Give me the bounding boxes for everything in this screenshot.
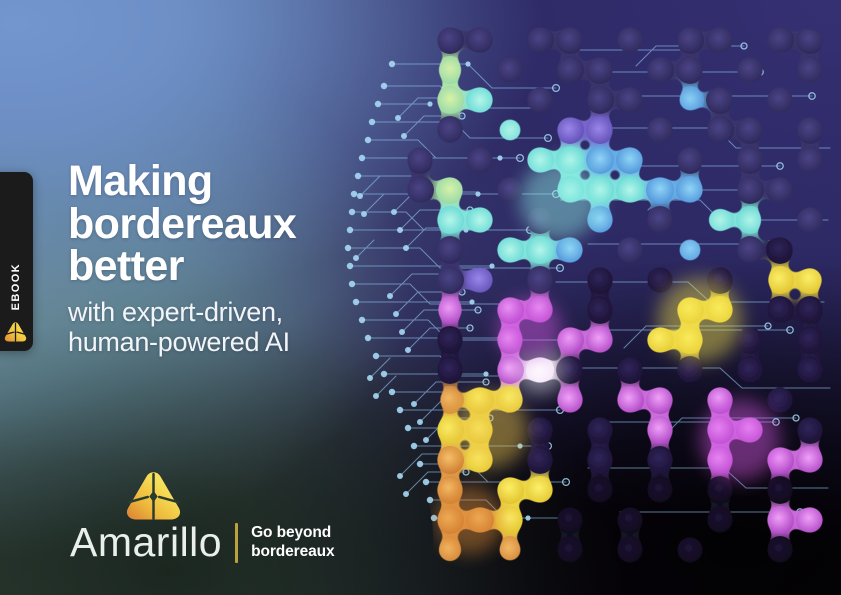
lockup-divider xyxy=(235,523,238,563)
tagline-line-2: bordereaux xyxy=(251,543,334,561)
ebook-tab-label: EBOOK xyxy=(10,263,22,310)
ebook-side-tab[interactable]: EBOOK xyxy=(0,172,33,351)
page-subtitle: with expert-driven, human-powered AI xyxy=(68,297,368,357)
tagline-line-1: Go beyond xyxy=(251,524,334,542)
subhead-line-1: with expert-driven, xyxy=(68,297,368,327)
brand-wordmark: Amarillo xyxy=(70,522,235,563)
copy-block: Making bordereaux better with expert-dri… xyxy=(68,160,368,357)
amarillo-triangle-icon xyxy=(125,471,182,521)
headline-line-1: Making xyxy=(68,160,368,203)
ebook-cover: EBOOK Making bordereaux better with expe… xyxy=(0,0,841,595)
subhead-line-2: human-powered AI xyxy=(68,327,368,357)
wordmark-row: Amarillo Go beyond bordereaux xyxy=(70,522,335,563)
brand-tagline: Go beyond bordereaux xyxy=(251,524,334,560)
amarillo-triangle-icon xyxy=(4,322,27,342)
brand-lockup: Amarillo Go beyond bordereaux xyxy=(70,471,335,563)
headline-line-2: bordereaux xyxy=(68,203,368,246)
page-title: Making bordereaux better xyxy=(68,160,368,288)
headline-line-3: better xyxy=(68,245,368,288)
